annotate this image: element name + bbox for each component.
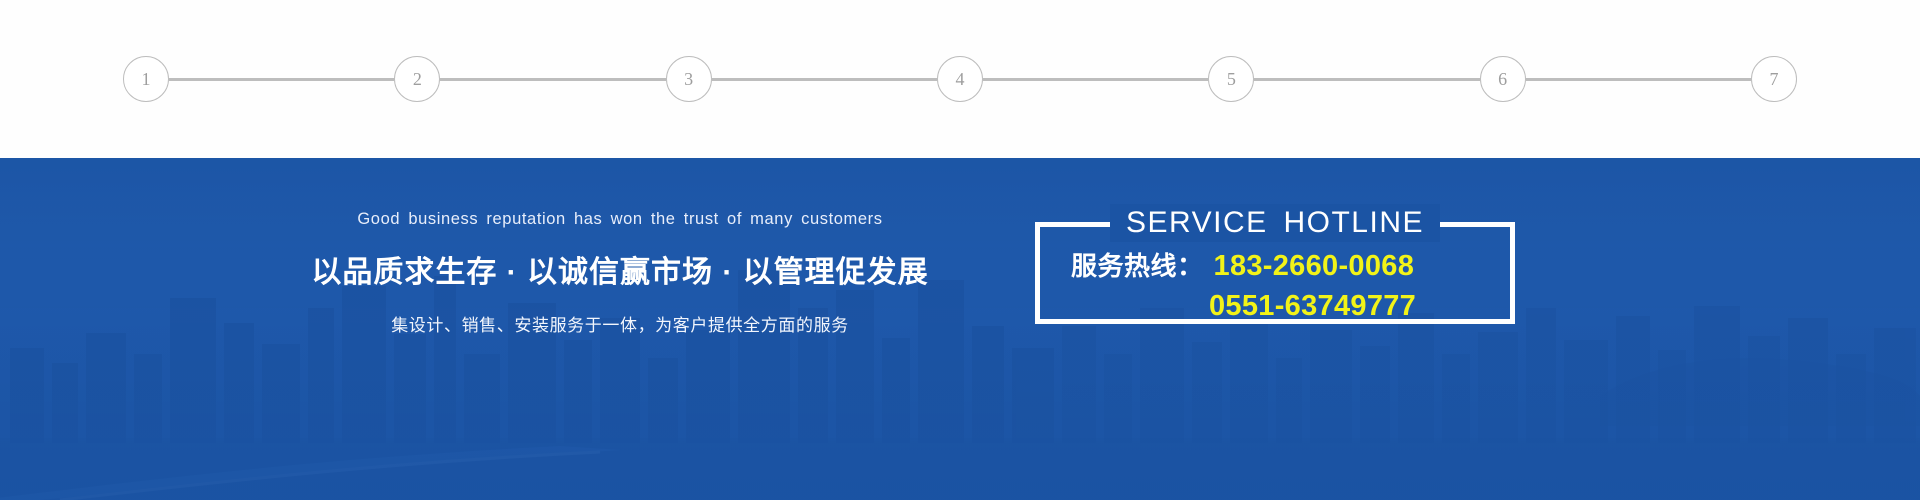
hotline-phone-secondary[interactable]: 0551-63749777 (1209, 286, 1416, 326)
step-node-label: 6 (1498, 70, 1507, 88)
step-pagination: 1 2 3 4 5 6 7 (123, 64, 1797, 94)
step-node-7[interactable]: 7 (1751, 56, 1797, 102)
step-connector (1526, 78, 1751, 81)
step-connector (1254, 78, 1479, 81)
step-node-label: 5 (1227, 70, 1236, 88)
hotline-body: 服务热线： 183-2660-0068 0551-63749777 (1035, 246, 1515, 326)
hotline-phone-primary[interactable]: 183-2660-0068 (1214, 246, 1415, 286)
slogan-banner: Good business reputation has won the tru… (0, 158, 1920, 500)
step-connector (440, 78, 665, 81)
step-node-3[interactable]: 3 (666, 56, 712, 102)
slogan-headline: 以品质求生存 · 以诚信赢市场 · 以管理促发展 (300, 247, 940, 291)
step-node-5[interactable]: 5 (1208, 56, 1254, 102)
step-pagination-strip: 1 2 3 4 5 6 7 (0, 0, 1920, 158)
hotline-row-primary: 服务热线： 183-2660-0068 (1071, 246, 1501, 286)
step-connector (712, 78, 937, 81)
slogan-block: Good business reputation has won the tru… (300, 210, 940, 336)
step-node-label: 1 (142, 70, 151, 88)
service-hotline-box: SERVICE HOTLINE 服务热线： 183-2660-0068 0551… (1035, 204, 1515, 324)
slogan-subline: 集设计、销售、安装服务于一体，为客户提供全方面的服务 (300, 311, 940, 336)
step-node-1[interactable]: 1 (123, 56, 169, 102)
hotline-row-secondary: 0551-63749777 (1071, 286, 1501, 326)
hotline-label: 服务热线： (1071, 246, 1204, 286)
step-node-label: 3 (684, 70, 693, 88)
hotline-title-wrap: SERVICE HOTLINE (1035, 204, 1515, 242)
footer-banner-page: 1 2 3 4 5 6 7 (0, 0, 1920, 500)
step-node-label: 4 (955, 70, 964, 88)
step-node-2[interactable]: 2 (394, 56, 440, 102)
step-connector (169, 78, 394, 81)
hotline-title: SERVICE HOTLINE (1110, 204, 1440, 242)
step-node-label: 7 (1769, 70, 1778, 88)
step-node-4[interactable]: 4 (937, 56, 983, 102)
step-node-6[interactable]: 6 (1480, 56, 1526, 102)
slogan-english-tagline: Good business reputation has won the tru… (300, 210, 940, 229)
step-node-label: 2 (413, 70, 422, 88)
banner-content: Good business reputation has won the tru… (0, 158, 1920, 500)
step-connector (983, 78, 1208, 81)
